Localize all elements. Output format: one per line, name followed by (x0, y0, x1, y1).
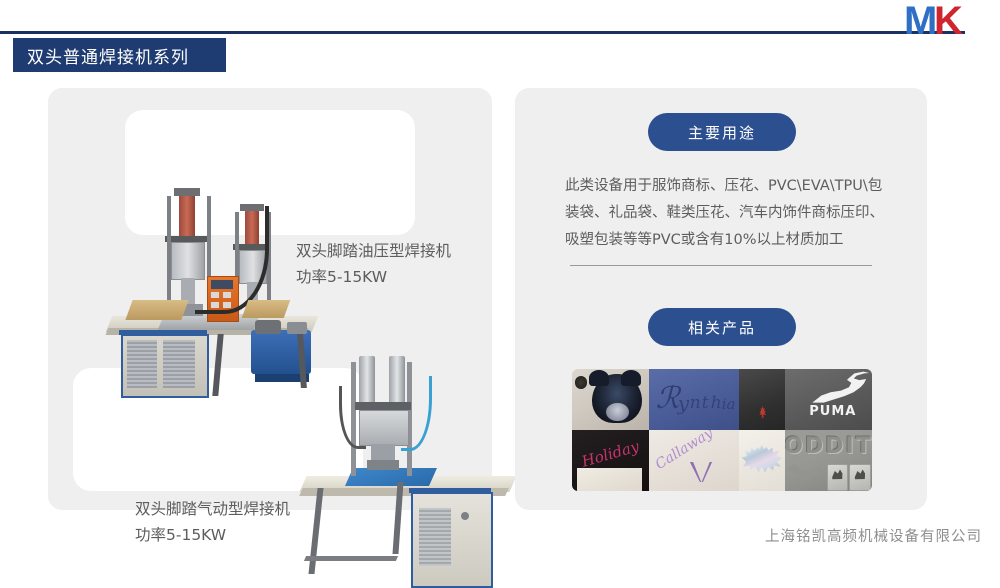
related-products-pill[interactable]: 相关产品 (648, 308, 796, 346)
logo-letter-m: M (904, 1, 935, 41)
cynthia-script-icon: ℛ y n t h ia (656, 385, 732, 409)
info-panel: 主要用途 此类设备用于服饰商标、压花、PVC\EVA\TPU\包装袋、礼品袋、鞋… (515, 88, 927, 510)
chevron-emboss-icon (787, 464, 822, 486)
collage-tile-puma-logo: PUMA (785, 369, 872, 430)
tiger-badge-icon (575, 376, 587, 388)
collage-tile-cynthia-script: ℛ y n t h ia (649, 369, 739, 430)
product-label-hydraulic-line2: 功率5-15KW (296, 264, 451, 290)
mk-logo: M K (904, 1, 982, 34)
oddit-wordmark: ODDIT (788, 434, 868, 460)
section-header-banner: 双头普通焊接机系列 (13, 38, 226, 72)
batman-emblem-icon (741, 443, 782, 478)
panel-divider (570, 265, 872, 266)
collage-tile-pink-script-patch: Holiday (572, 430, 649, 491)
care-symbol-icon (831, 469, 843, 481)
related-products-collage: ℛ y n t h ia PUMA Holiday Callaway (572, 369, 872, 491)
puma-wordmark: PUMA (799, 404, 867, 419)
section-title: 双头普通焊接机系列 (13, 43, 189, 68)
main-use-pill-label: 主要用途 (688, 122, 756, 143)
care-tag-right (849, 464, 870, 490)
main-use-pill[interactable]: 主要用途 (648, 113, 796, 151)
maple-leaf-icon (759, 406, 766, 419)
machine-image-pneumatic (303, 356, 528, 586)
tiger-ear-left-icon (589, 370, 609, 386)
main-use-description: 此类设备用于服饰商标、压花、PVC\EVA\TPU\包装袋、礼品袋、鞋类压花、汽… (565, 173, 895, 254)
v-mark-icon (690, 462, 712, 483)
puma-cat-icon (811, 376, 868, 403)
fabric-swatch (577, 468, 643, 491)
collage-tile-maple-leaf-patch (739, 369, 786, 430)
product-label-hydraulic: 双头脚踏油压型焊接机 功率5-15KW (296, 238, 451, 290)
footer-company-name: 上海铭凯高频机械设备有限公司 (765, 525, 982, 546)
pink-script-text: Holiday (580, 437, 641, 470)
product-showcase-panel: 双头脚踏油压型焊接机 功率5-15KW 双头脚踏气动型焊接机 功率5-15KW (48, 88, 492, 510)
logo-letter-k: K (934, 1, 961, 41)
product-label-hydraulic-line1: 双头脚踏油压型焊接机 (296, 242, 451, 260)
care-tag-left (827, 464, 848, 490)
product-label-pneumatic-line2: 功率5-15KW (135, 522, 290, 548)
collage-tile-tiger-emblem (572, 369, 649, 430)
brand-rule-divider (0, 31, 965, 34)
brand-area: M K (820, 0, 1000, 36)
product-label-pneumatic: 双头脚踏气动型焊接机 功率5-15KW (135, 496, 290, 548)
tiger-ear-right-icon (621, 370, 641, 386)
collage-tile-purple-script-patch: Callaway (649, 430, 739, 491)
care-symbol-icon (854, 469, 866, 481)
product-label-pneumatic-line1: 双头脚踏气动型焊接机 (135, 500, 290, 518)
collage-tile-batman-emblem (739, 430, 786, 491)
purple-script-text: Callaway (653, 430, 716, 473)
related-products-pill-label: 相关产品 (688, 317, 756, 338)
collage-tile-oddit-emboss: ODDIT (785, 430, 872, 491)
